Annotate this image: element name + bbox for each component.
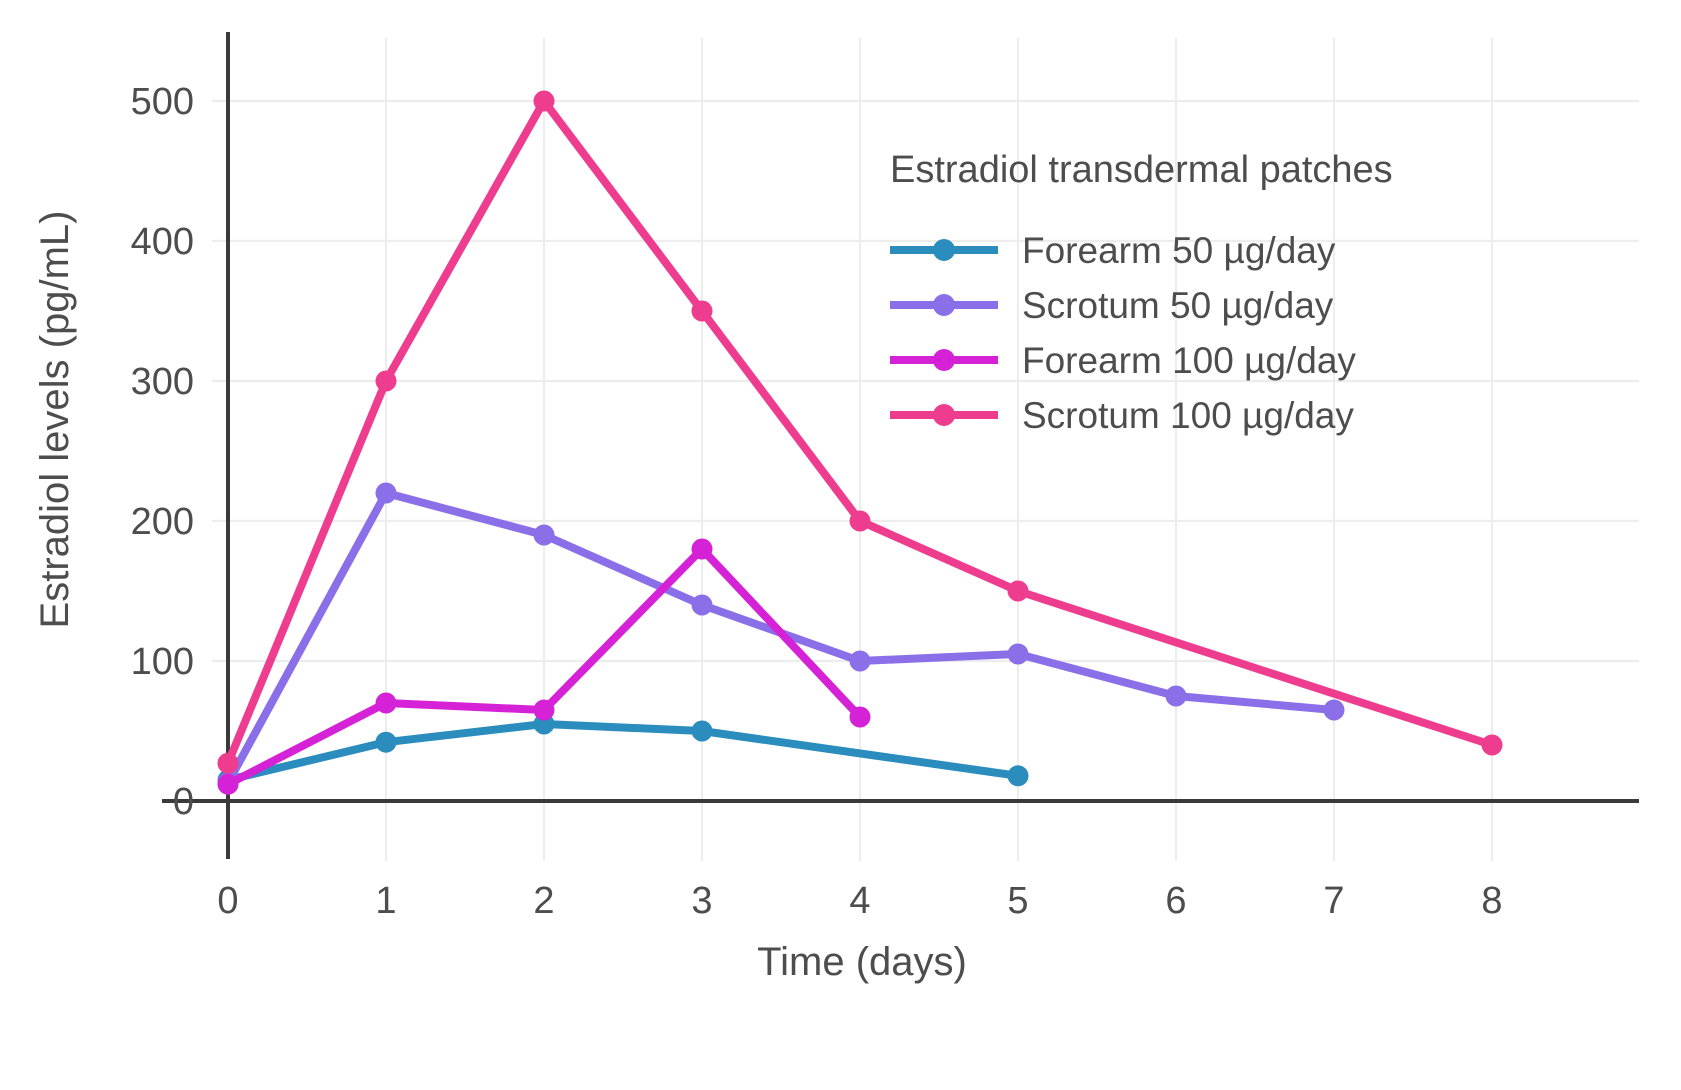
legend-swatch-marker — [933, 239, 955, 261]
legend-item-label: Scrotum 100 µg/day — [1022, 395, 1354, 436]
x-tick-label: 1 — [375, 880, 396, 922]
series-line — [228, 724, 1018, 780]
legend-item-0[interactable]: Forearm 50 µg/day — [890, 230, 1336, 271]
line-chart: 0100200300400500 012345678 Estradiol lev… — [0, 0, 1681, 1090]
data-point[interactable] — [1008, 644, 1029, 665]
y-tick-label: 100 — [131, 641, 194, 683]
legend-item-label: Scrotum 50 µg/day — [1022, 285, 1334, 326]
x-tick-label: 4 — [849, 880, 870, 922]
x-axis-title: Time (days) — [757, 940, 967, 984]
x-tick-label: 6 — [1165, 880, 1186, 922]
data-point[interactable] — [850, 707, 871, 728]
y-tick-label: 0 — [173, 781, 194, 823]
data-point[interactable] — [1008, 581, 1029, 602]
y-tick-label: 300 — [131, 361, 194, 403]
data-point[interactable] — [376, 693, 397, 714]
legend-item-2[interactable]: Forearm 100 µg/day — [890, 340, 1356, 381]
legend[interactable]: Estradiol transdermal patchesForearm 50 … — [890, 149, 1393, 436]
legend-swatch-marker — [933, 404, 955, 426]
y-axis-title: Estradiol levels (pg/mL) — [33, 211, 77, 629]
data-point[interactable] — [1008, 765, 1029, 786]
x-tick-label: 2 — [533, 880, 554, 922]
legend-item-1[interactable]: Scrotum 50 µg/day — [890, 285, 1334, 326]
chart-page: 0100200300400500 012345678 Estradiol lev… — [0, 0, 1681, 1090]
data-point[interactable] — [1482, 735, 1503, 756]
y-tick-label: 500 — [131, 81, 194, 123]
data-point[interactable] — [692, 721, 713, 742]
x-tick-label: 3 — [691, 880, 712, 922]
data-point[interactable] — [218, 753, 239, 774]
x-tick-label: 8 — [1481, 880, 1502, 922]
y-tick-label: 400 — [131, 221, 194, 263]
legend-item-label: Forearm 100 µg/day — [1022, 340, 1356, 381]
legend-item-label: Forearm 50 µg/day — [1022, 230, 1336, 271]
data-point[interactable] — [218, 774, 239, 795]
data-point[interactable] — [692, 539, 713, 560]
x-tick-labels: 012345678 — [217, 880, 1502, 922]
data-point[interactable] — [1324, 700, 1345, 721]
x-tick-label: 7 — [1323, 880, 1344, 922]
data-point[interactable] — [850, 651, 871, 672]
data-point[interactable] — [1166, 686, 1187, 707]
x-tick-label: 0 — [217, 880, 238, 922]
data-point[interactable] — [692, 301, 713, 322]
y-tick-labels: 0100200300400500 — [131, 81, 194, 823]
data-point[interactable] — [692, 595, 713, 616]
legend-swatch-marker — [933, 294, 955, 316]
legend-swatch-marker — [933, 349, 955, 371]
y-tick-label: 200 — [131, 501, 194, 543]
data-point[interactable] — [534, 91, 555, 112]
x-tick-label: 5 — [1007, 880, 1028, 922]
data-point[interactable] — [376, 483, 397, 504]
data-point[interactable] — [534, 700, 555, 721]
legend-item-3[interactable]: Scrotum 100 µg/day — [890, 395, 1354, 436]
data-point[interactable] — [376, 732, 397, 753]
legend-title: Estradiol transdermal patches — [890, 149, 1393, 191]
data-point[interactable] — [376, 371, 397, 392]
data-point[interactable] — [534, 525, 555, 546]
data-point[interactable] — [850, 511, 871, 532]
